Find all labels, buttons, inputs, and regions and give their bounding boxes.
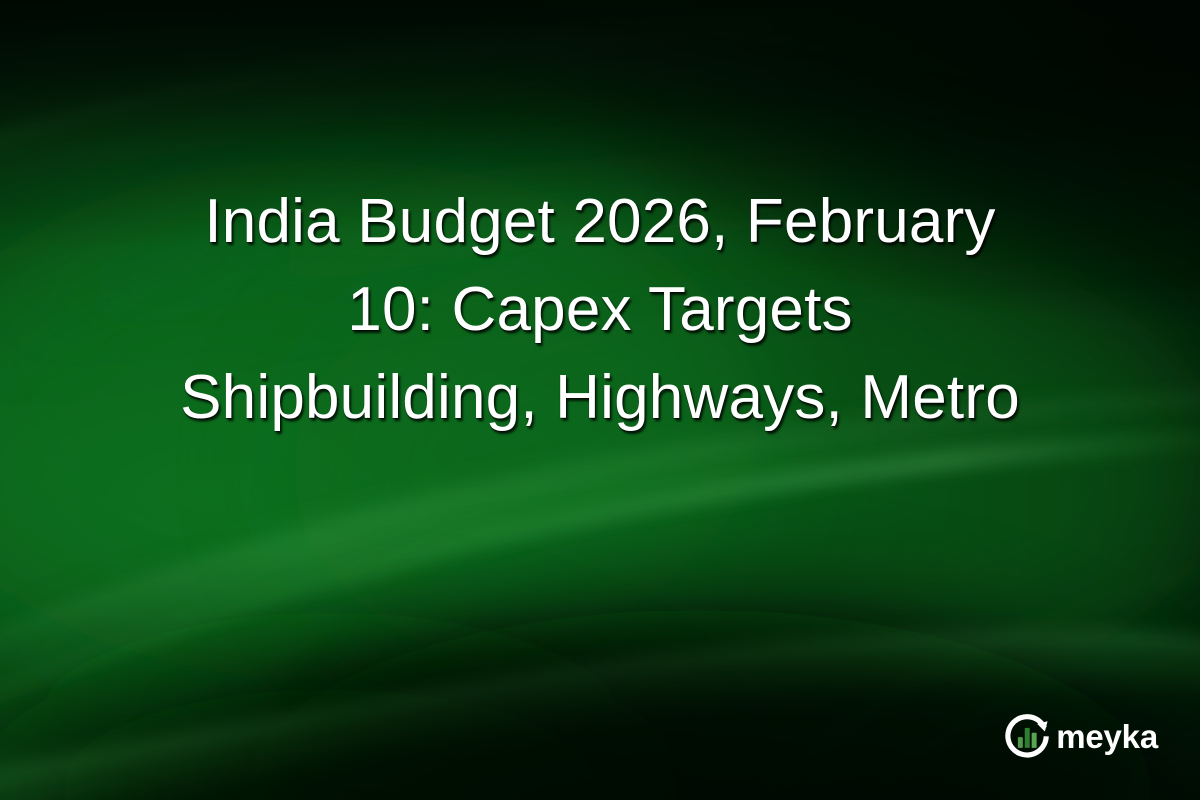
headline-line-3: Shipbuilding, Highways, Metro (36, 354, 1164, 442)
headline-line-1: India Budget 2026, February (36, 178, 1164, 266)
bar-chart-circle-logo-icon (1005, 712, 1051, 758)
brand-logo[interactable]: meyka (1005, 712, 1158, 758)
article-cover-canvas: India Budget 2026, February 10: Capex Ta… (0, 0, 1200, 800)
headline-line-2: 10: Capex Targets (36, 266, 1164, 354)
brand-name-label: meyka (1056, 720, 1158, 753)
cover-headline: India Budget 2026, February 10: Capex Ta… (0, 178, 1200, 442)
